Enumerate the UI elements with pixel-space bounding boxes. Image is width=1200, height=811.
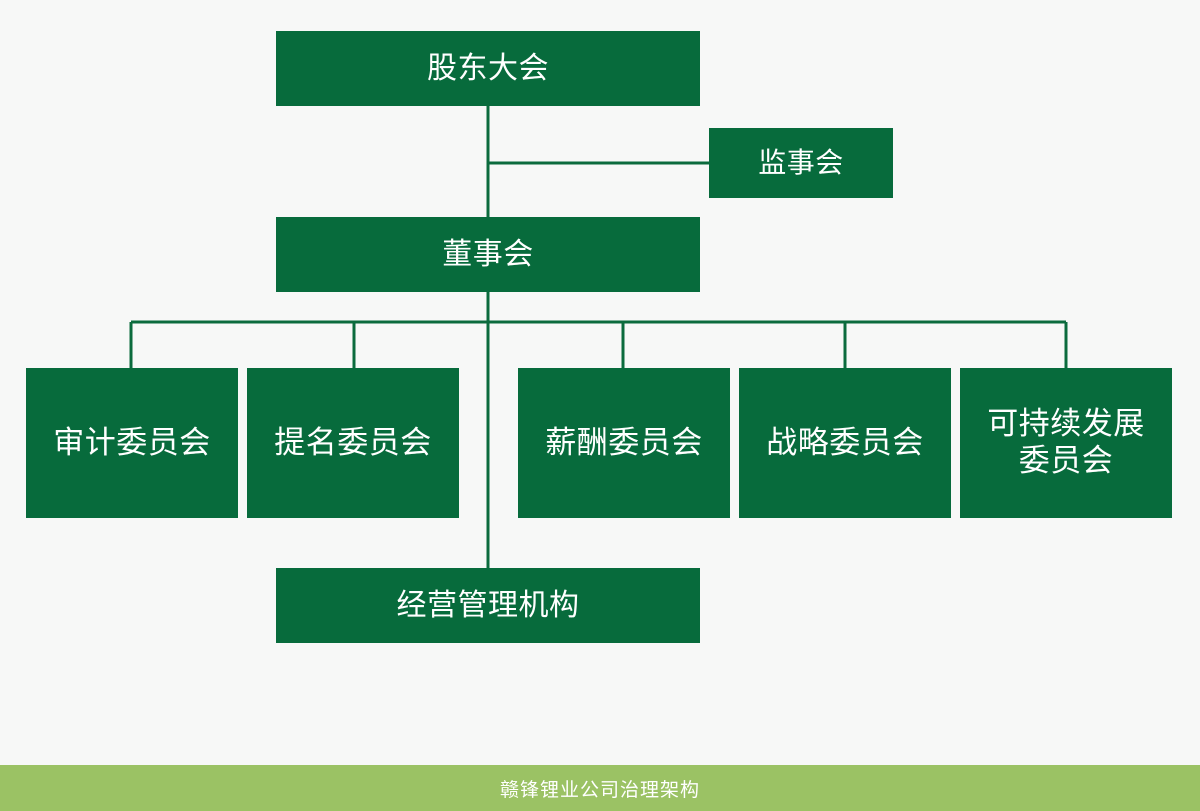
node-board-of-directors-label: 董事会 xyxy=(436,237,540,272)
node-shareholders-meeting-label: 股东大会 xyxy=(421,51,555,86)
node-committee-strategy-label: 战略委员会 xyxy=(760,425,930,462)
node-board-of-supervisors-label: 监事会 xyxy=(752,146,850,179)
node-committee-sustainable-development[interactable]: 可持续发展 委员会 xyxy=(960,368,1172,518)
node-committee-strategy[interactable]: 战略委员会 xyxy=(739,368,951,518)
node-board-of-directors[interactable]: 董事会 xyxy=(276,217,700,292)
node-committee-audit[interactable]: 审计委员会 xyxy=(26,368,238,518)
node-operating-management-organization-label: 经营管理机构 xyxy=(391,588,586,623)
node-committee-compensation[interactable]: 薪酬委员会 xyxy=(518,368,730,518)
node-shareholders-meeting[interactable]: 股东大会 xyxy=(276,31,700,106)
caption-bar: 赣锋锂业公司治理架构 xyxy=(0,765,1200,811)
caption-text: 赣锋锂业公司治理架构 xyxy=(500,775,700,802)
node-committee-compensation-label: 薪酬委员会 xyxy=(539,425,709,462)
node-committee-nomination-label: 提名委员会 xyxy=(268,425,438,462)
node-committee-nomination[interactable]: 提名委员会 xyxy=(247,368,459,518)
node-committee-audit-label: 审计委员会 xyxy=(47,425,217,462)
org-chart-canvas: 股东大会 监事会 董事会 审计委员会 提名委员会 薪酬委员会 战略委员会 可持续… xyxy=(0,0,1200,811)
node-committee-sustainable-development-label: 可持续发展 委员会 xyxy=(981,406,1151,479)
node-board-of-supervisors[interactable]: 监事会 xyxy=(709,128,893,198)
node-operating-management-organization[interactable]: 经营管理机构 xyxy=(276,568,700,643)
